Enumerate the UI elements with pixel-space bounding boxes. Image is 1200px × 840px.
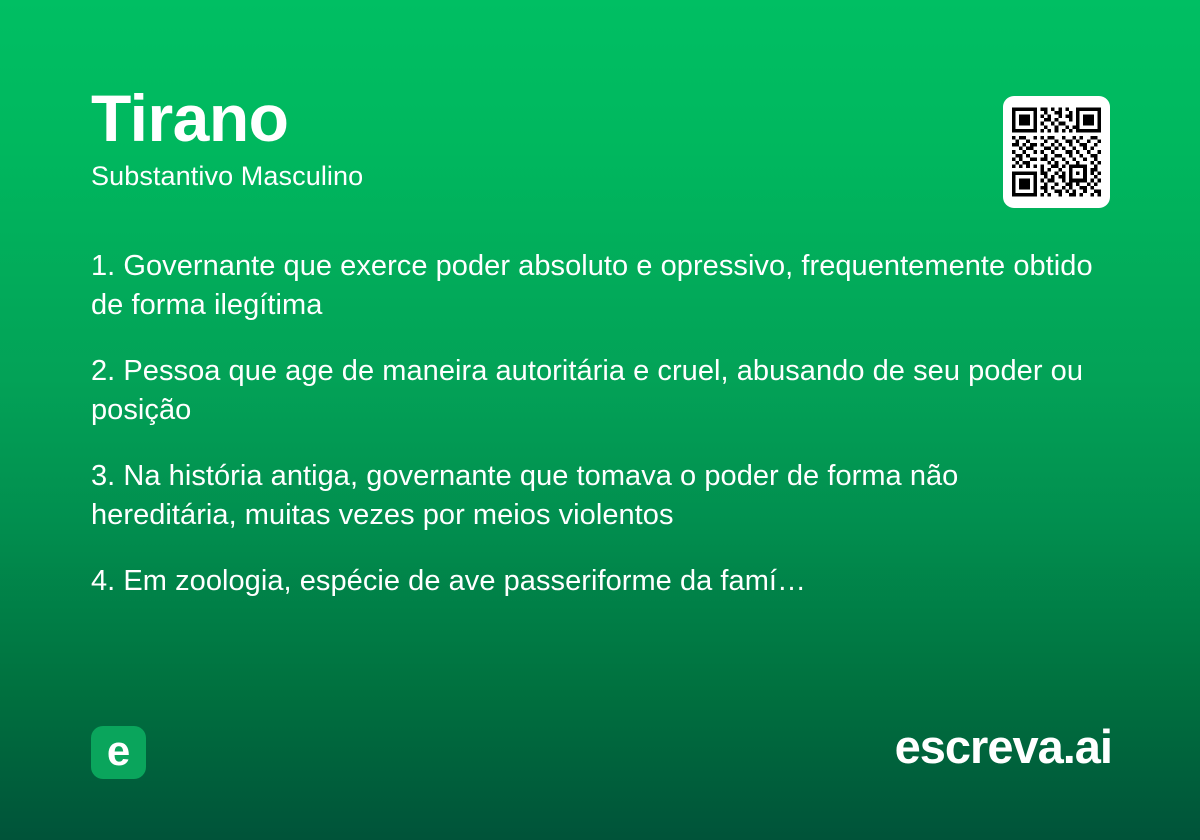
definition-item: 1. Governante que exerce poder absoluto … — [91, 247, 1096, 325]
definition-item: 2. Pessoa que age de maneira autoritária… — [91, 352, 1091, 430]
definition-card: Tirano Substantivo Masculino — [0, 0, 1200, 840]
definition-list: 1. Governante que exerce poder absoluto … — [91, 247, 1096, 601]
brand-wordmark: escreva.ai — [895, 723, 1112, 770]
qr-code[interactable] — [1003, 96, 1110, 208]
card-header: Tirano Substantivo Masculino — [91, 84, 1109, 192]
word-class-label: Substantivo Masculino — [91, 161, 1109, 192]
definition-item: 4. Em zoologia, espécie de ave passerifo… — [91, 562, 1096, 601]
definition-item: 3. Na história antiga, governante que to… — [91, 457, 1101, 535]
qr-code-icon — [1012, 105, 1101, 199]
brand-logo-letter: e — [107, 730, 130, 772]
page-title: Tirano — [91, 84, 1109, 153]
brand-logo-tile: e — [91, 726, 146, 779]
